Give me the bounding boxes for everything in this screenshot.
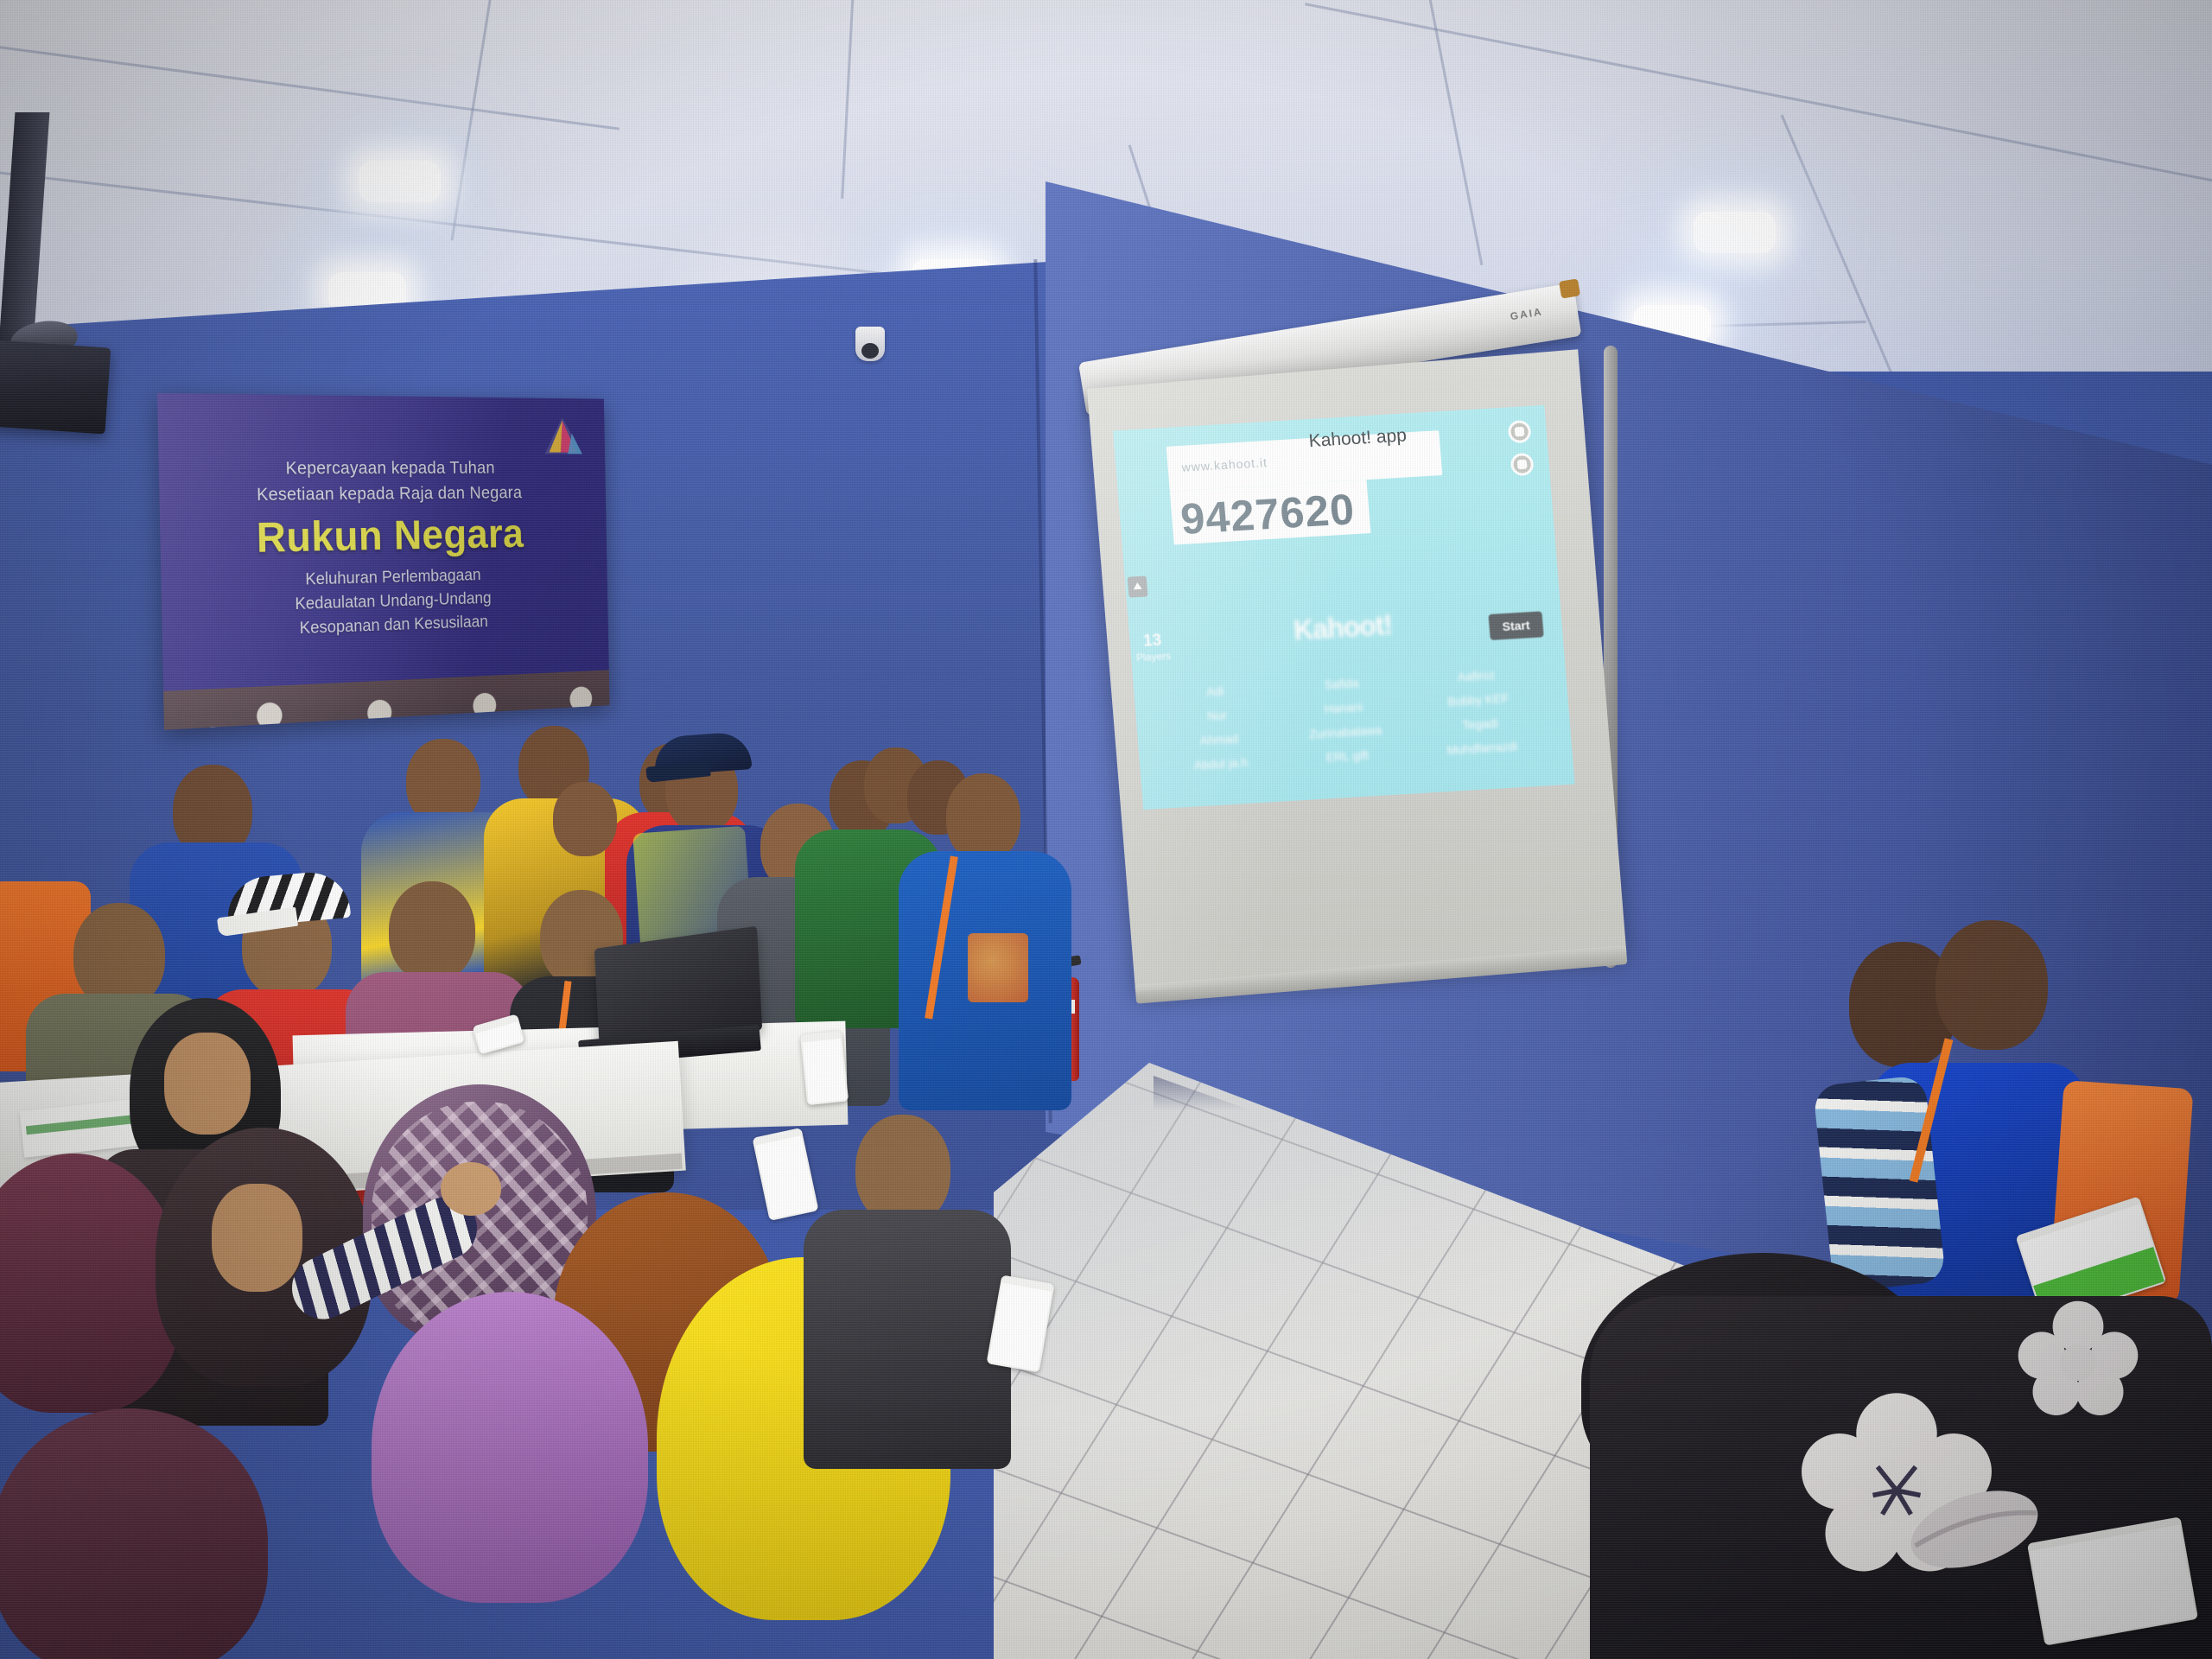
security-camera-icon — [855, 327, 885, 361]
player-name: Zurinabalawa — [1308, 723, 1382, 741]
ceiling-grid-line — [841, 0, 855, 199]
leaf-print-icon — [1892, 1460, 2056, 1599]
child-torso — [804, 1210, 1011, 1469]
hijab — [372, 1292, 648, 1603]
girl-face — [212, 1184, 302, 1292]
player-name: Tegadi — [1462, 716, 1498, 732]
poster-title: Rukun Negara — [181, 509, 588, 563]
kahoot-lock-icon[interactable] — [1128, 575, 1148, 597]
classroom-scene: Kepercayaan kepada Tuhan Kesetiaan kepad… — [0, 0, 2212, 1659]
poster-text-block: Kepercayaan kepada Tuhan Kesetiaan kepad… — [181, 459, 589, 643]
child-head — [73, 903, 165, 1008]
smartphone[interactable] — [800, 1031, 849, 1106]
player-column-1: Adi Nur Ahmad Abdul ja.h — [1188, 683, 1251, 798]
ceiling-grid-line — [451, 0, 494, 240]
poster-logo-icon — [538, 416, 587, 457]
ceiling-grid-line — [0, 41, 620, 130]
kahoot-pin-card: 9427620 — [1170, 480, 1371, 544]
ceiling-downlight-icon — [359, 161, 441, 202]
child-head — [553, 782, 617, 856]
kahoot-start-button[interactable]: Start — [1488, 611, 1543, 640]
player-column-3: Aafiroz Bobby KEF Tegadi Muhdfarrazdi — [1440, 667, 1520, 783]
housing-end-cap — [1559, 278, 1580, 298]
child-head — [1935, 920, 2048, 1050]
kahoot-projection: www.kahoot.it Kahoot! app 9427620 13 Pla… — [1113, 405, 1575, 810]
ceiling-downlight-icon — [1694, 212, 1776, 253]
child-head — [389, 881, 475, 982]
screen-bottom-bar — [1135, 945, 1627, 1004]
ceiling-grid-line — [1423, 0, 1484, 265]
player-name: Safida — [1324, 676, 1359, 691]
kahoot-settings-icon[interactable] — [1508, 420, 1532, 443]
kahoot-game-pin: 9427620 — [1179, 484, 1357, 544]
projector-screen-assembly: GAIA www.kahoot.it Kahoot! app 9427620 1… — [1087, 363, 1595, 1046]
player-name: Adi — [1206, 683, 1224, 698]
shirt-graphic — [968, 933, 1028, 1002]
player-name: Nur — [1207, 708, 1228, 722]
speaker-icon — [1517, 460, 1528, 470]
hand — [441, 1162, 501, 1216]
kahoot-logo: Kahoot! — [1293, 609, 1394, 647]
kahoot-player-list: Adi Nur Ahmad Abdul ja.h Safida Hanani Z… — [1134, 664, 1574, 801]
projection-screen-surface: www.kahoot.it Kahoot! app 9427620 13 Pla… — [1087, 349, 1626, 991]
kahoot-players-counter: 13 Players — [1135, 631, 1172, 664]
player-name: Bobby KEF — [1447, 691, 1510, 709]
poster-line-1: Kepercayaan kepada Tuhan — [181, 459, 587, 480]
kahoot-sound-icon[interactable] — [1510, 453, 1535, 476]
wall-speaker — [0, 340, 111, 434]
ceiling-grid-line — [1781, 115, 1895, 372]
player-name: Hanani — [1324, 700, 1363, 716]
player-name: Abdul ja.h — [1193, 755, 1248, 772]
player-name: Muhdfarrazdi — [1446, 739, 1518, 757]
hijab — [0, 1408, 268, 1659]
player-column-2: Safida Hanani Zurinabalawa ERL gift — [1305, 675, 1386, 791]
striped-shirt — [1813, 1075, 1946, 1293]
poster-line-2: Kesetiaan kepada Raja dan Negara — [181, 483, 588, 506]
kahoot-players-label: Players — [1136, 650, 1172, 664]
floral-print-icon — [1987, 1279, 2169, 1443]
girl-face — [164, 1033, 251, 1135]
screen-brand-label: GAIA — [1510, 305, 1544, 322]
child-head — [855, 1115, 950, 1225]
rukun-negara-poster: Kepercayaan kepada Tuhan Kesetiaan kepad… — [157, 393, 610, 730]
player-name: ERL gift — [1325, 748, 1369, 765]
phone-screen — [803, 1039, 847, 1103]
child-head — [946, 773, 1020, 861]
player-name: Aafiroz — [1457, 668, 1496, 684]
ceiling-grid-line — [1305, 3, 2212, 190]
gear-icon — [1515, 427, 1525, 437]
player-name: Ahmad — [1199, 731, 1239, 747]
kahoot-url: www.kahoot.it — [1181, 455, 1268, 474]
kahoot-players-count: 13 — [1135, 631, 1171, 652]
